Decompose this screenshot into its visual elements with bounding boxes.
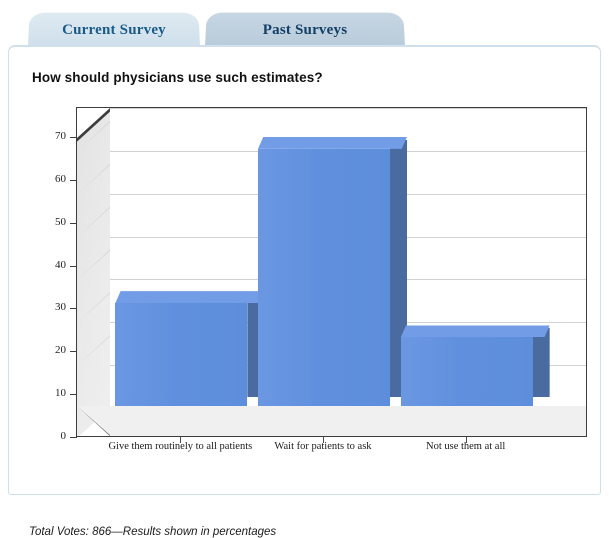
tab-current-survey[interactable]: Current Survey (28, 12, 200, 46)
chart-container: 010203040506070 Give them routinely to a… (26, 107, 587, 462)
bar-1-front-face (258, 149, 390, 406)
tab-past-surveys-label: Past Surveys (205, 12, 405, 48)
y-label-70: 70 (26, 130, 66, 142)
gridline-70 (110, 108, 587, 109)
y-label-30: 30 (26, 301, 66, 313)
survey-panel: How should physicians use such estimates… (8, 45, 601, 495)
y-tick-0 (70, 437, 77, 438)
bar-0 (115, 291, 247, 406)
y-label-50: 50 (26, 216, 66, 228)
bar-2-top-face (401, 325, 550, 337)
y-label-10: 10 (26, 387, 66, 399)
tab-past-surveys[interactable]: Past Surveys (205, 12, 405, 46)
bar-0-front-face (115, 303, 247, 406)
bar-2 (401, 325, 533, 406)
chart-floor (77, 406, 587, 436)
bar-1-top-face (258, 137, 407, 149)
x-label-2: Not use them at all (346, 441, 586, 452)
bar-0-top-face (115, 291, 264, 303)
y-label-60: 60 (26, 173, 66, 185)
tab-strip: Current Survey Past Surveys (0, 0, 609, 46)
y-label-40: 40 (26, 259, 66, 271)
page-title: How should physicians use such estimates… (32, 70, 323, 85)
chart-plot-box (76, 107, 587, 437)
y-label-20: 20 (26, 344, 66, 356)
chart-left-wall (77, 108, 110, 437)
bar-2-side-face (533, 328, 550, 397)
survey-panel-inner: How should physicians use such estimates… (14, 52, 595, 490)
tab-current-survey-label: Current Survey (28, 12, 200, 48)
chart-left-wall-face (77, 108, 110, 437)
chart-floor-face (77, 406, 587, 436)
total-votes-note: Total Votes: 866—Results shown in percen… (29, 526, 276, 538)
bar-2-front-face (401, 337, 533, 406)
bar-1 (258, 137, 390, 406)
